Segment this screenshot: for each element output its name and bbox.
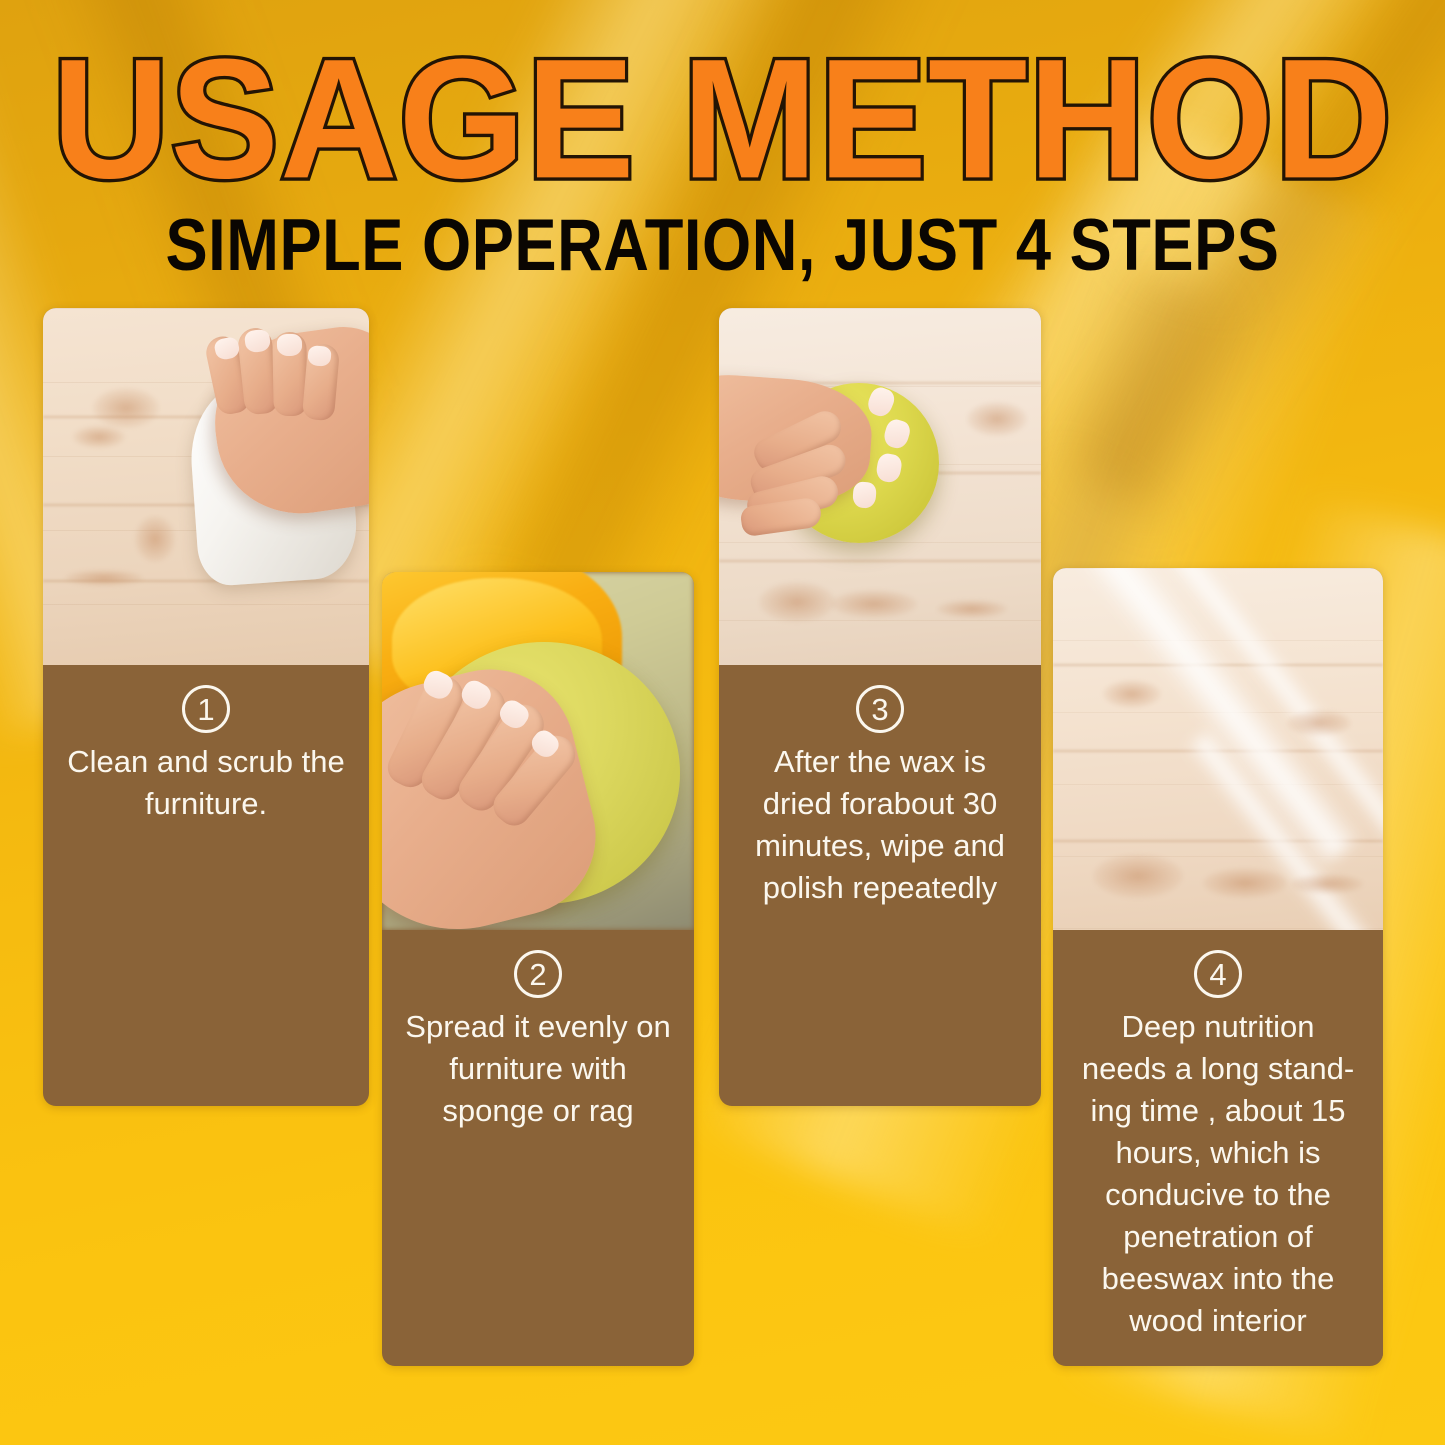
wood-knot <box>1203 868 1287 898</box>
step-number-badge: 3 <box>856 685 904 733</box>
wood-knot <box>967 402 1027 436</box>
step-2-photo <box>382 572 694 930</box>
step-card-1[interactable]: 1 Clean and scrub the furniture. <box>43 308 369 1106</box>
wood-knot <box>1093 854 1183 898</box>
wood-knot <box>1291 874 1363 894</box>
step-3-photo <box>719 308 1041 665</box>
header: USAGE METHOD SIMPLE OPERATION, JUST 4 ST… <box>0 0 1445 272</box>
step-4-photo <box>1053 568 1383 930</box>
step-card-4[interactable]: 4 Deep nutrition needs a long stand- ing… <box>1053 568 1383 1366</box>
step-card-3[interactable]: 3 After the wax is dried forabout 30 min… <box>719 308 1041 1106</box>
wood-grain <box>719 560 1041 562</box>
step-number-badge: 4 <box>1194 950 1242 998</box>
wood-knot <box>1287 710 1351 736</box>
wood-knot <box>1103 680 1161 708</box>
step-caption-text: Clean and scrub the furniture. <box>57 741 355 825</box>
step-caption-text: Spread it evenly on furniture with spong… <box>396 1006 680 1132</box>
wood-knot <box>65 570 143 586</box>
step-1-caption: 1 Clean and scrub the furniture. <box>43 665 369 841</box>
step-3-caption: 3 After the wax is dried forabout 30 min… <box>719 665 1041 925</box>
step-1-photo <box>43 308 369 665</box>
step-2-caption: 2 Spread it evenly on furniture with spo… <box>382 930 694 1148</box>
step-number-badge: 1 <box>182 685 230 733</box>
step-caption-text: After the wax is dried forabout 30 minut… <box>733 741 1027 909</box>
wood-knot <box>937 600 1007 618</box>
step-caption-text: Deep nutrition needs a long stand- ing t… <box>1067 1006 1369 1342</box>
wood-knot <box>759 582 835 622</box>
usage-method-infographic: USAGE METHOD SIMPLE OPERATION, JUST 4 ST… <box>0 0 1445 1445</box>
wood-knot <box>93 388 159 428</box>
wood-knot <box>73 426 125 448</box>
wood-knot <box>831 590 917 618</box>
step-4-caption: 4 Deep nutrition needs a long stand- ing… <box>1053 930 1383 1358</box>
step-number-badge: 2 <box>514 950 562 998</box>
step-card-2[interactable]: 2 Spread it evenly on furniture with spo… <box>382 572 694 1366</box>
page-title: USAGE METHOD <box>0 34 1445 204</box>
fingernail <box>277 334 302 356</box>
wood-knot <box>135 516 175 562</box>
page-subtitle: SIMPLE OPERATION, JUST 4 STEPS <box>0 210 1445 283</box>
